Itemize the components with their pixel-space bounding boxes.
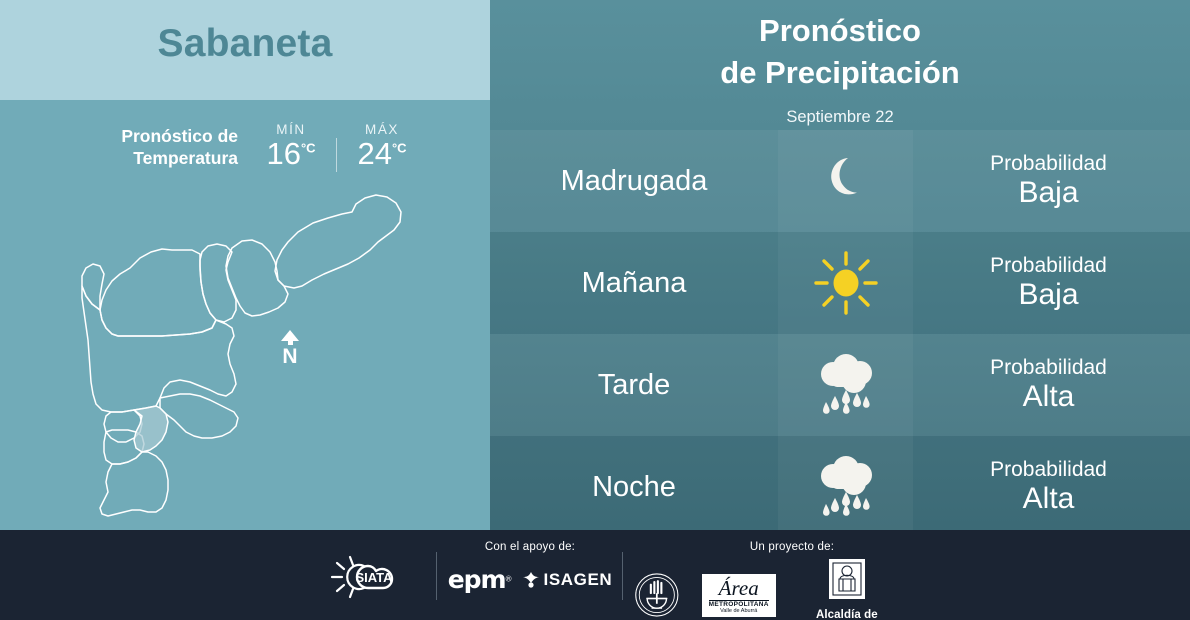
- compass-label: N: [276, 346, 304, 367]
- area-sub2: Valle de Aburrá: [709, 608, 769, 614]
- udea-seal-icon[interactable]: [634, 569, 680, 620]
- period-label: Tarde: [490, 369, 778, 402]
- weather-icon-cell: [778, 130, 913, 232]
- forecast-row-noche[interactable]: Noche: [490, 436, 1190, 530]
- precipitation-panel: Pronóstico de Precipitación Septiembre 2…: [490, 0, 1190, 530]
- epm-logo[interactable]: epm®: [448, 565, 512, 594]
- weather-icon-cell: [778, 436, 913, 530]
- precipitation-header: Pronóstico de Precipitación Septiembre 2…: [490, 0, 1190, 130]
- forecast-date: Septiembre 22: [490, 108, 1190, 127]
- probability-label: Probabilidad: [913, 254, 1184, 278]
- probability-cell: Probabilidad Alta: [913, 458, 1190, 515]
- period-label: Noche: [490, 471, 778, 504]
- area-metropolitana-logo[interactable]: Área METROPOLITANA Valle de Aburrá: [702, 574, 776, 617]
- forecast-row-tarde[interactable]: Tarde: [490, 334, 1190, 436]
- footer: SIATA Con el apoyo de: epm® ISAGEN: [0, 530, 1190, 620]
- alcaldia-shield-icon: [826, 557, 868, 603]
- probability-label: Probabilidad: [913, 458, 1184, 482]
- siata-logo-icon[interactable]: SIATA: [330, 554, 422, 600]
- project-group: Un proyecto de:: [626, 530, 896, 620]
- rain-cloud-icon: [811, 352, 881, 418]
- precipitation-title-line2: de Precipitación: [490, 52, 1190, 94]
- forecast-row-manana[interactable]: Mañana: [490, 232, 1190, 334]
- probability-cell: Probabilidad Baja: [913, 254, 1190, 311]
- area-label: Área: [709, 578, 769, 601]
- city-name: Sabaneta: [0, 22, 490, 66]
- probability-value: Baja: [913, 176, 1184, 210]
- precipitation-title: Pronóstico de Precipitación: [490, 10, 1190, 93]
- sun-icon: [812, 249, 880, 317]
- temperature-min-label: MÍN: [254, 122, 328, 137]
- compass-arrow-icon: [281, 330, 299, 341]
- temperature-title: Pronóstico de Temperatura: [60, 122, 238, 170]
- probability-label: Probabilidad: [913, 152, 1184, 176]
- temperature-min-unit: °C: [301, 141, 316, 156]
- isagen-label: ISAGEN: [544, 570, 613, 590]
- epm-registered-mark: ®: [506, 575, 512, 584]
- weather-forecast-poster: Sabaneta Pronóstico de Temperatura MÍN 1…: [0, 0, 1190, 620]
- epm-label: epm: [448, 565, 506, 594]
- siata-group: SIATA: [318, 530, 433, 620]
- probability-value: Alta: [913, 380, 1184, 414]
- project-caption: Un proyecto de:: [626, 530, 896, 553]
- support-caption: Con el apoyo de:: [440, 530, 620, 553]
- compass-north-icon: N: [276, 330, 304, 367]
- isagen-mark-icon: [522, 571, 540, 589]
- temperature-min: MÍN 16°C: [254, 122, 328, 170]
- valle-de-aburra-map[interactable]: [56, 170, 446, 522]
- area-sub1: METROPOLITANA: [709, 601, 769, 608]
- footer-divider-2: [622, 552, 623, 600]
- support-group: Con el apoyo de: epm® ISAGEN: [440, 530, 620, 620]
- temperature-max-value: 24°C: [345, 138, 419, 170]
- temperature-divider: [336, 138, 337, 172]
- probability-label: Probabilidad: [913, 356, 1184, 380]
- temperature-title-line1: Pronóstico de: [60, 125, 238, 147]
- forecast-rows: Madrugada Probabilidad Baja Mañana: [490, 130, 1190, 530]
- temperature-title-line2: Temperatura: [60, 147, 238, 169]
- temperature-min-value: 16°C: [254, 138, 328, 170]
- weather-icon-cell: [778, 334, 913, 436]
- alcaldia-label: Alcaldía de Medellín: [798, 609, 896, 620]
- weather-icon-cell: [778, 232, 913, 334]
- temperature-max-label: MÁX: [345, 122, 419, 137]
- probability-value: Baja: [913, 278, 1184, 312]
- period-label: Mañana: [490, 267, 778, 300]
- svg-text:SIATA: SIATA: [355, 570, 393, 585]
- rain-cloud-icon: [811, 454, 881, 520]
- probability-value: Alta: [913, 482, 1184, 516]
- temperature-max: MÁX 24°C: [345, 122, 419, 170]
- probability-cell: Probabilidad Alta: [913, 356, 1190, 413]
- footer-divider-1: [436, 552, 437, 600]
- forecast-row-madrugada[interactable]: Madrugada Probabilidad Baja: [490, 130, 1190, 232]
- map-highlight-sabaneta: [134, 406, 168, 452]
- temperature-max-unit: °C: [392, 141, 407, 156]
- temperature-panel: Sabaneta Pronóstico de Temperatura MÍN 1…: [0, 0, 490, 530]
- isagen-logo[interactable]: ISAGEN: [522, 570, 613, 590]
- moon-icon: [814, 149, 878, 213]
- precipitation-title-line1: Pronóstico: [490, 10, 1190, 52]
- alcaldia-logo[interactable]: Alcaldía de Medellín: [798, 557, 896, 620]
- probability-cell: Probabilidad Baja: [913, 152, 1190, 209]
- temperature-values: MÍN 16°C MÁX 24°C: [238, 122, 419, 172]
- period-label: Madrugada: [490, 165, 778, 198]
